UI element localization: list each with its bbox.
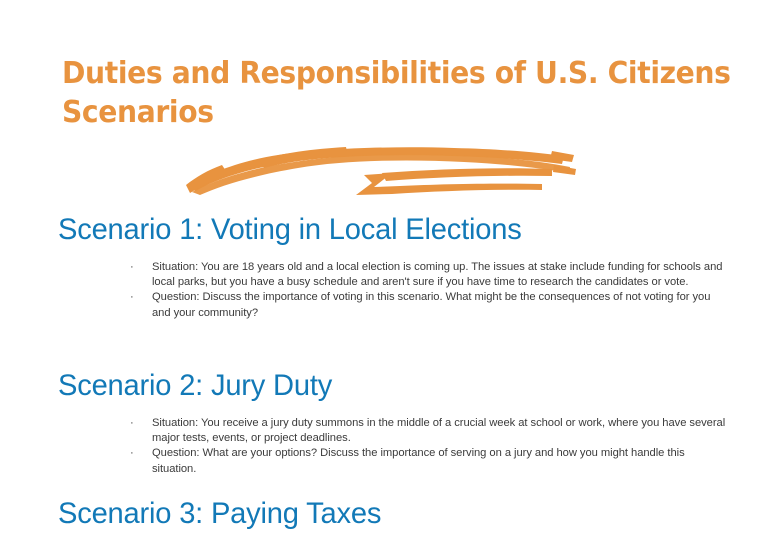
- bullet-dot-icon: ·: [130, 260, 134, 275]
- bullet-dot-icon: ·: [130, 446, 134, 461]
- list-item-text: Situation: You are 18 years old and a lo…: [152, 261, 722, 288]
- bullet-dot-icon: ·: [130, 290, 134, 305]
- scenario-3-heading: Scenario 3: Paying Taxes: [58, 496, 737, 532]
- list-item: · Question: Discuss the importance of vo…: [130, 290, 730, 320]
- slide-canvas: Duties and Responsibilities of U.S. Citi…: [0, 0, 780, 534]
- page-title-line-2: Scenarios: [62, 93, 682, 132]
- brush-underline-icon: [186, 143, 578, 195]
- scenario-1-bullet-list: · Situation: You are 18 years old and a …: [130, 260, 730, 321]
- section-scenario-3: Scenario 3: Paying Taxes: [58, 496, 758, 532]
- list-item: · Situation: You receive a jury duty sum…: [130, 416, 730, 446]
- scenario-2-heading: Scenario 2: Jury Duty: [58, 368, 737, 404]
- list-item-text: Question: What are your options? Discuss…: [152, 447, 685, 474]
- section-scenario-2: Scenario 2: Jury Duty · Situation: You r…: [58, 368, 758, 477]
- page-title: Duties and Responsibilities of U.S. Citi…: [62, 54, 722, 132]
- list-item-text: Question: Discuss the importance of voti…: [152, 291, 710, 318]
- scenario-2-bullet-list: · Situation: You receive a jury duty sum…: [130, 416, 730, 477]
- list-item: · Question: What are your options? Discu…: [130, 446, 730, 476]
- list-item: · Situation: You are 18 years old and a …: [130, 260, 730, 290]
- list-item-text: Situation: You receive a jury duty summo…: [152, 417, 725, 444]
- section-scenario-1: Scenario 1: Voting in Local Elections · …: [58, 212, 758, 321]
- page-title-line-1: Duties and Responsibilities of U.S. Citi…: [62, 54, 682, 93]
- scenario-1-heading: Scenario 1: Voting in Local Elections: [58, 212, 737, 248]
- bullet-dot-icon: ·: [130, 416, 134, 431]
